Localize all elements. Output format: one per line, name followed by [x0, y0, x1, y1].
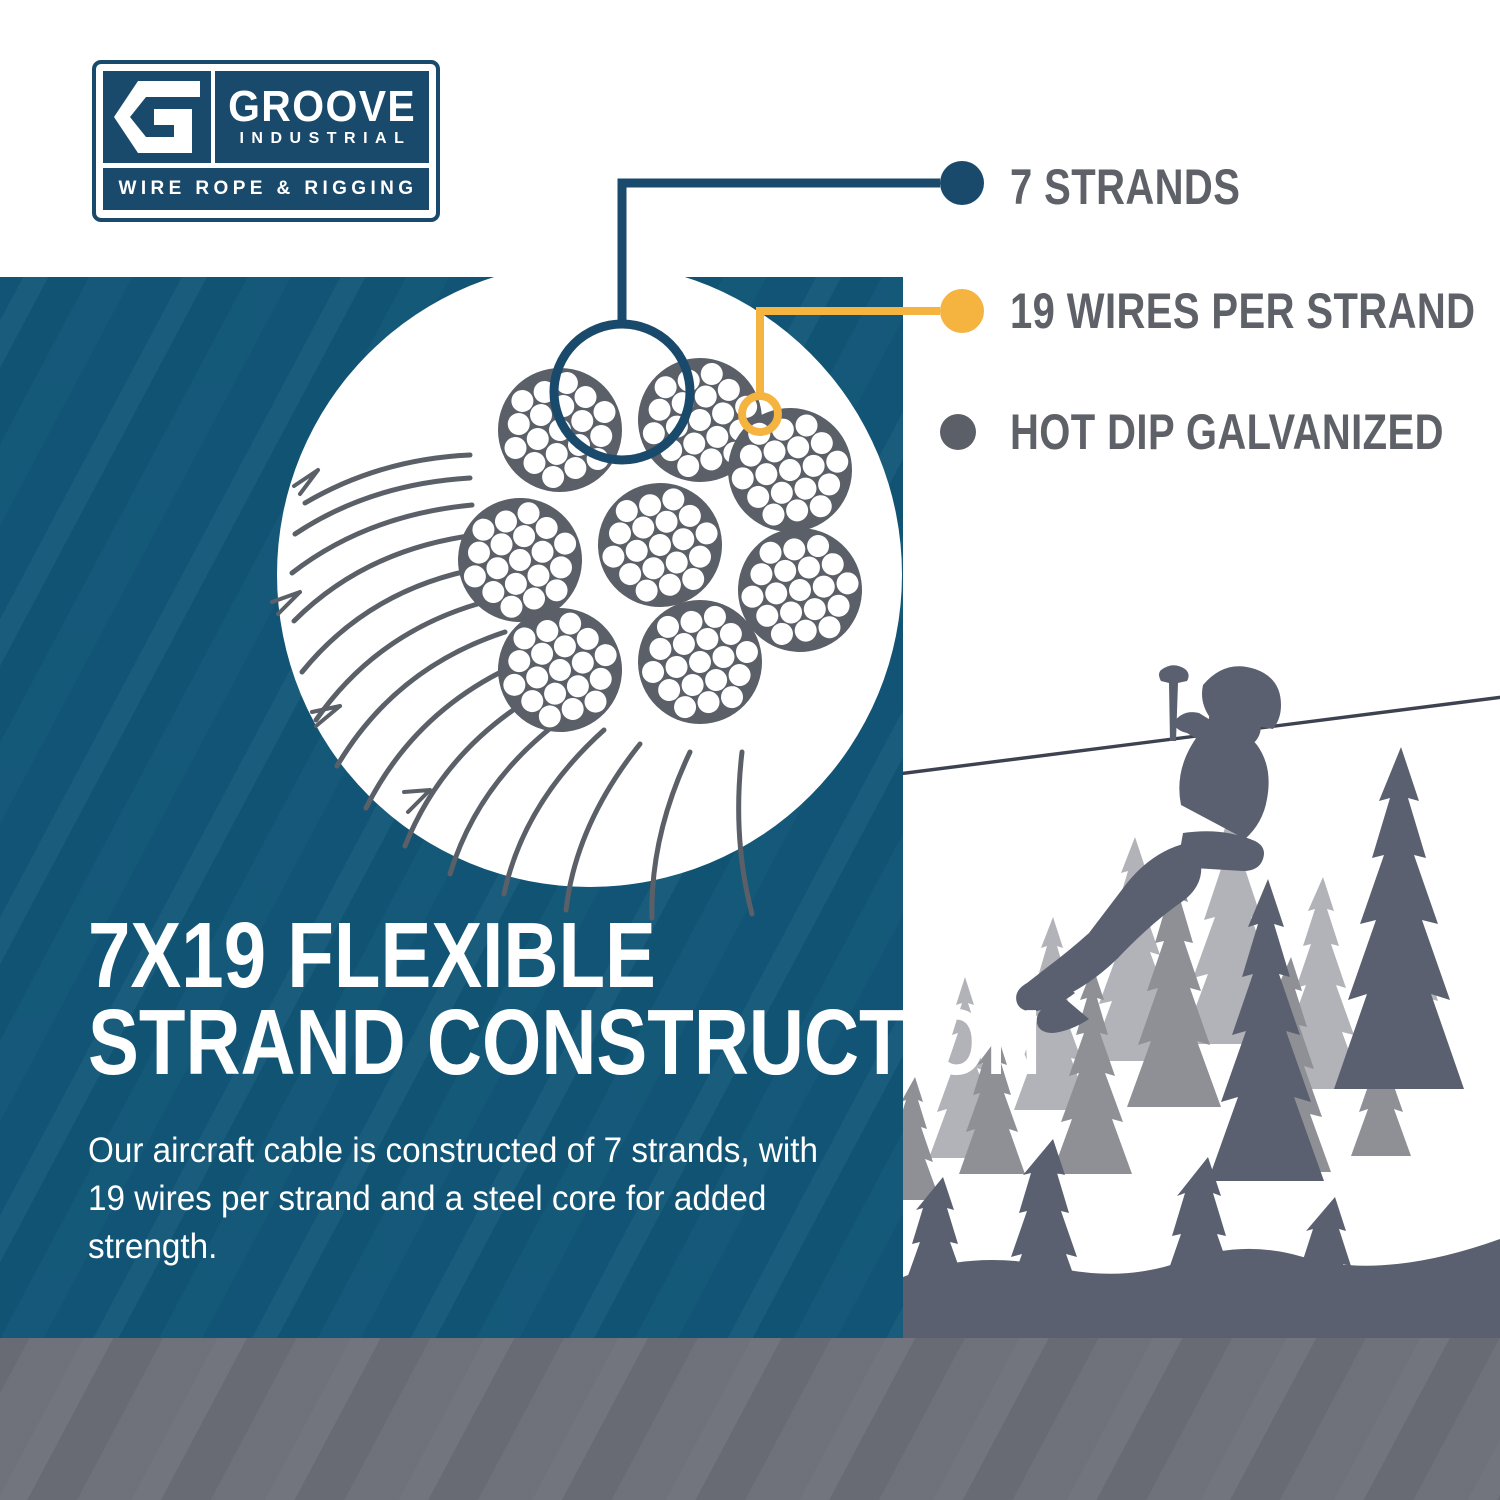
- g-hexagon-glyph: [114, 81, 200, 153]
- callout-7-strands: 7 STRANDS: [940, 162, 1298, 212]
- logo-tagline-text: WIRE ROPE & RIGGING: [115, 178, 418, 200]
- groove-g-monogram-icon: [103, 71, 211, 163]
- page-title-line1: 7X19 FLEXIBLE: [88, 912, 736, 999]
- white-spotlight-circle: [277, 262, 902, 887]
- callout-19-wires-per-strand: 19 WIRES PER STRAND: [940, 286, 1500, 336]
- logo-name: GROOVE: [228, 86, 416, 127]
- callout-label: HOT DIP GALVANIZED: [1010, 407, 1444, 457]
- body-description: Our aircraft cable is constructed of 7 s…: [88, 1127, 839, 1272]
- logo-tagline-bar: WIRE ROPE & RIGGING: [103, 168, 429, 210]
- callout-hot-dip-galvanized: HOT DIP GALVANIZED: [940, 407, 1500, 457]
- headline-block: 7X19 FLEXIBLE STRAND CONSTRUCTION Our ai…: [88, 912, 878, 1272]
- page-title-line2: STRAND CONSTRUCTION: [88, 999, 736, 1086]
- infographic-canvas: GROOVE INDUSTRIAL WIRE ROPE & RIGGING 7 …: [0, 0, 1500, 1500]
- brand-logo[interactable]: GROOVE INDUSTRIAL WIRE ROPE & RIGGING: [92, 60, 440, 222]
- callout-label: 7 STRANDS: [1010, 162, 1240, 212]
- bottom-gray-band: [0, 1338, 1500, 1500]
- logo-subname: INDUSTRIAL: [232, 130, 411, 148]
- logo-wordmark: GROOVE INDUSTRIAL: [215, 71, 429, 163]
- callout-label: 19 WIRES PER STRAND: [1010, 286, 1475, 336]
- logo-top-row: GROOVE INDUSTRIAL: [103, 71, 429, 163]
- gray-dot-icon: [940, 414, 976, 450]
